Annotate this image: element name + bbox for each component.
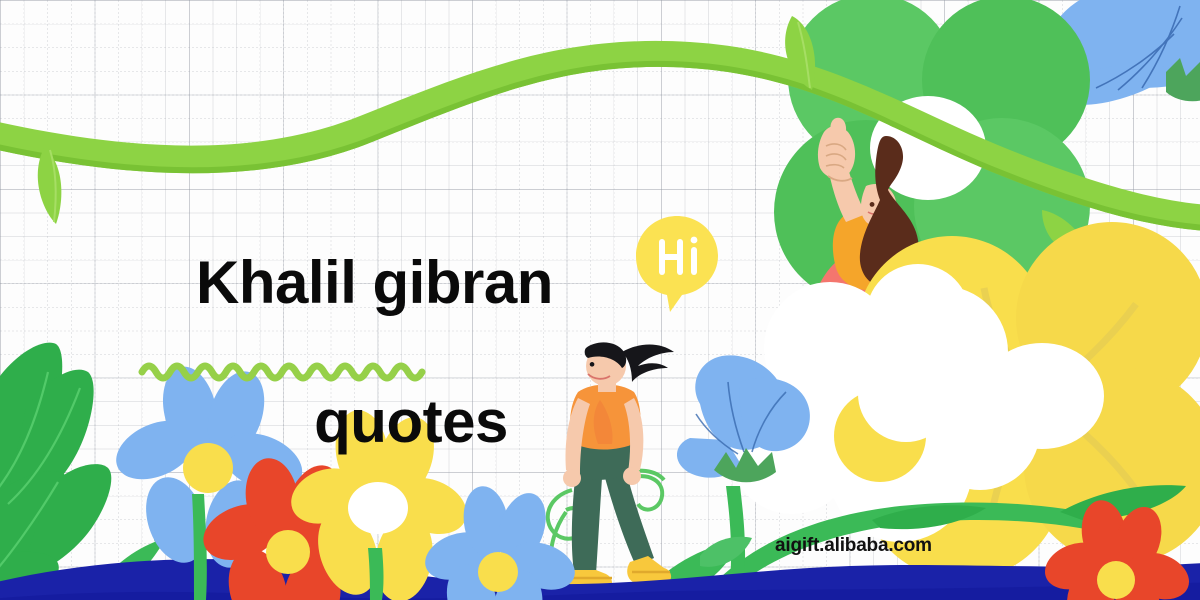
- fern-leaves-icon: [0, 343, 111, 600]
- page-title: Khalil gibran quotes: [196, 178, 666, 526]
- watermark-text: aigift.alibaba.com: [775, 535, 932, 557]
- speech-bubble: Hi: [632, 212, 722, 316]
- banner-root: Khalil gibran quotes Hi aigift.alibaba.c…: [0, 0, 1200, 600]
- page-title-line-1: Khalil gibran: [196, 248, 666, 318]
- page-title-line-2: quotes: [196, 387, 666, 457]
